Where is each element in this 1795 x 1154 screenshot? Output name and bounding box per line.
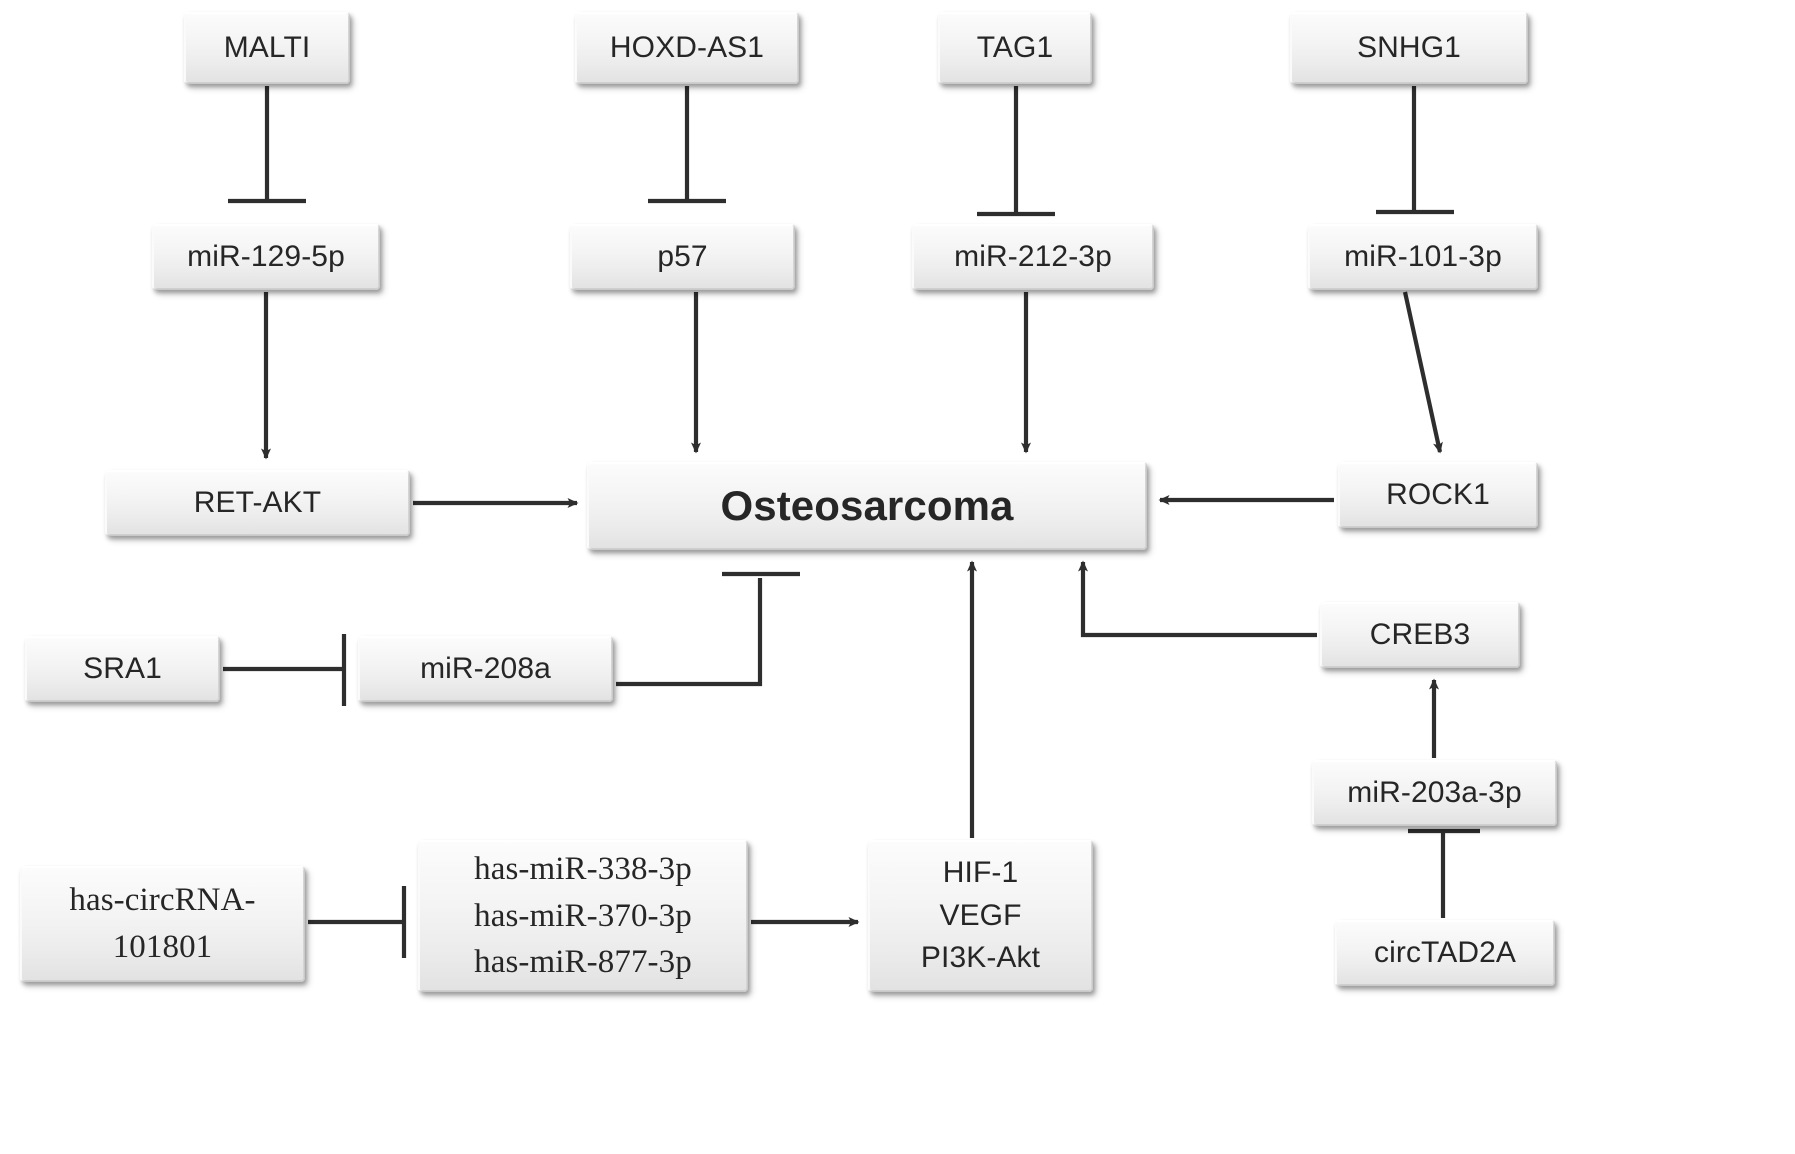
node-snhg1[interactable]: SNHG1 <box>1290 12 1528 84</box>
node-has-circrna-101801[interactable]: has-circRNA- 101801 <box>20 866 305 982</box>
node-mir-129-5p[interactable]: miR-129-5p <box>152 224 380 290</box>
node-label: miR-101-3p <box>1315 239 1531 276</box>
node-label: ROCK1 <box>1345 477 1531 514</box>
node-mir-101-3p[interactable]: miR-101-3p <box>1308 224 1538 290</box>
node-ret-akt[interactable]: RET-AKT <box>105 470 410 536</box>
node-label-line-1: has-miR-338-3p <box>474 846 692 893</box>
node-label-line-2: has-miR-370-3p <box>474 893 692 940</box>
pathway-diagram-canvas: MALTI HOXD-AS1 TAG1 SNHG1 miR-129-5p p57… <box>0 0 1795 1154</box>
node-sra1[interactable]: SRA1 <box>25 636 220 702</box>
node-label: CREB3 <box>1327 617 1513 654</box>
node-label-line-2: 101801 <box>113 924 213 971</box>
node-label: SRA1 <box>32 651 213 688</box>
node-circtad2a[interactable]: circTAD2A <box>1335 920 1555 986</box>
node-label: miR-129-5p <box>159 239 373 276</box>
node-mir-208a[interactable]: miR-208a <box>358 636 613 702</box>
node-hif1-vegf-pi3k-akt[interactable]: HIF-1 VEGF PI3K-Akt <box>868 840 1093 992</box>
node-label: MALTI <box>191 30 343 67</box>
node-rock1[interactable]: ROCK1 <box>1338 462 1538 528</box>
node-label: miR-203a-3p <box>1319 775 1550 812</box>
node-label: p57 <box>577 239 788 276</box>
node-label: circTAD2A <box>1342 935 1548 972</box>
node-has-mir-group[interactable]: has-miR-338-3p has-miR-370-3p has-miR-87… <box>418 840 748 992</box>
node-osteosarcoma[interactable]: Osteosarcoma <box>587 462 1147 550</box>
edge-tag1-mir212 <box>977 86 1055 214</box>
edge-mir208a-osteo <box>616 574 800 684</box>
node-tag1[interactable]: TAG1 <box>938 12 1092 84</box>
node-label-line-1: HIF-1 <box>943 852 1019 895</box>
node-malti[interactable]: MALTI <box>184 12 350 84</box>
node-label-line-1: has-circRNA- <box>69 877 255 924</box>
node-label-line-2: VEGF <box>939 895 1021 938</box>
node-p57[interactable]: p57 <box>570 224 795 290</box>
edge-circrna-mirtriple <box>308 886 404 958</box>
edge-malti-mir129 <box>228 86 306 201</box>
node-creb3[interactable]: CREB3 <box>1320 602 1520 668</box>
node-mir-212-3p[interactable]: miR-212-3p <box>912 224 1154 290</box>
edge-snhg1-mir101 <box>1376 86 1454 212</box>
edge-circtad2a-mir203a <box>1408 831 1480 918</box>
edge-creb3-osteo <box>1083 562 1317 635</box>
node-hoxd-as1[interactable]: HOXD-AS1 <box>575 12 799 84</box>
node-label: RET-AKT <box>112 485 403 522</box>
node-label: TAG1 <box>945 30 1085 67</box>
edge-mir101-rock1 <box>1405 292 1440 452</box>
node-label: miR-208a <box>365 651 606 688</box>
node-label-line-3: PI3K-Akt <box>921 937 1040 980</box>
node-label-line-3: has-miR-877-3p <box>474 939 692 986</box>
node-label: HOXD-AS1 <box>582 30 792 67</box>
node-label: miR-212-3p <box>919 239 1147 276</box>
edge-hoxdas1-p57 <box>648 86 726 201</box>
edge-sra1-mir208a <box>223 634 344 706</box>
node-mir-203a-3p[interactable]: miR-203a-3p <box>1312 760 1557 826</box>
node-label: SNHG1 <box>1297 30 1521 67</box>
node-label: Osteosarcoma <box>594 480 1140 531</box>
